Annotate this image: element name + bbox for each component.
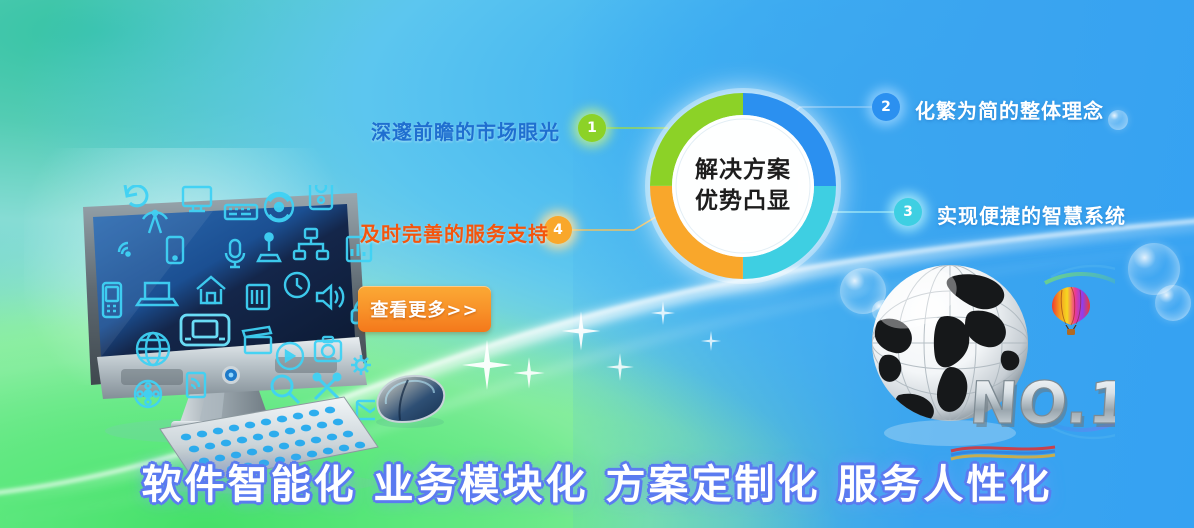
feature-label-2: 化繁为简的整体理念 — [915, 95, 1104, 124]
feature-label-1: 深邃前瞻的市场眼光 — [371, 116, 560, 145]
donut-center-line2: 优势凸显 — [695, 186, 791, 217]
feature-badge-2[interactable]: 2 — [872, 93, 900, 121]
hot-air-balloon-icon — [1050, 285, 1092, 337]
no1-badge-text: NO.1 — [967, 369, 1115, 437]
donut-center-label: 解决方案 优势凸显 — [645, 88, 841, 284]
marketing-banner: NO.1 NO.1 — [0, 0, 1194, 528]
bubble — [1155, 285, 1191, 321]
feature-badge-1[interactable]: 1 — [578, 114, 606, 142]
banner-tagline: 软件智能化 业务模块化 方案定制化 服务人性化 — [0, 452, 1194, 510]
view-more-button[interactable]: 查看更多>> — [358, 286, 491, 332]
feature-badge-3[interactable]: 3 — [894, 198, 922, 226]
feature-label-4: 及时完善的服务支持 — [360, 218, 549, 247]
donut-center-line1: 解决方案 — [695, 155, 791, 186]
computer-mouse-illustration — [368, 372, 450, 430]
feature-label-3: 实现便捷的智慧系统 — [937, 200, 1126, 229]
bubble — [1108, 110, 1128, 130]
